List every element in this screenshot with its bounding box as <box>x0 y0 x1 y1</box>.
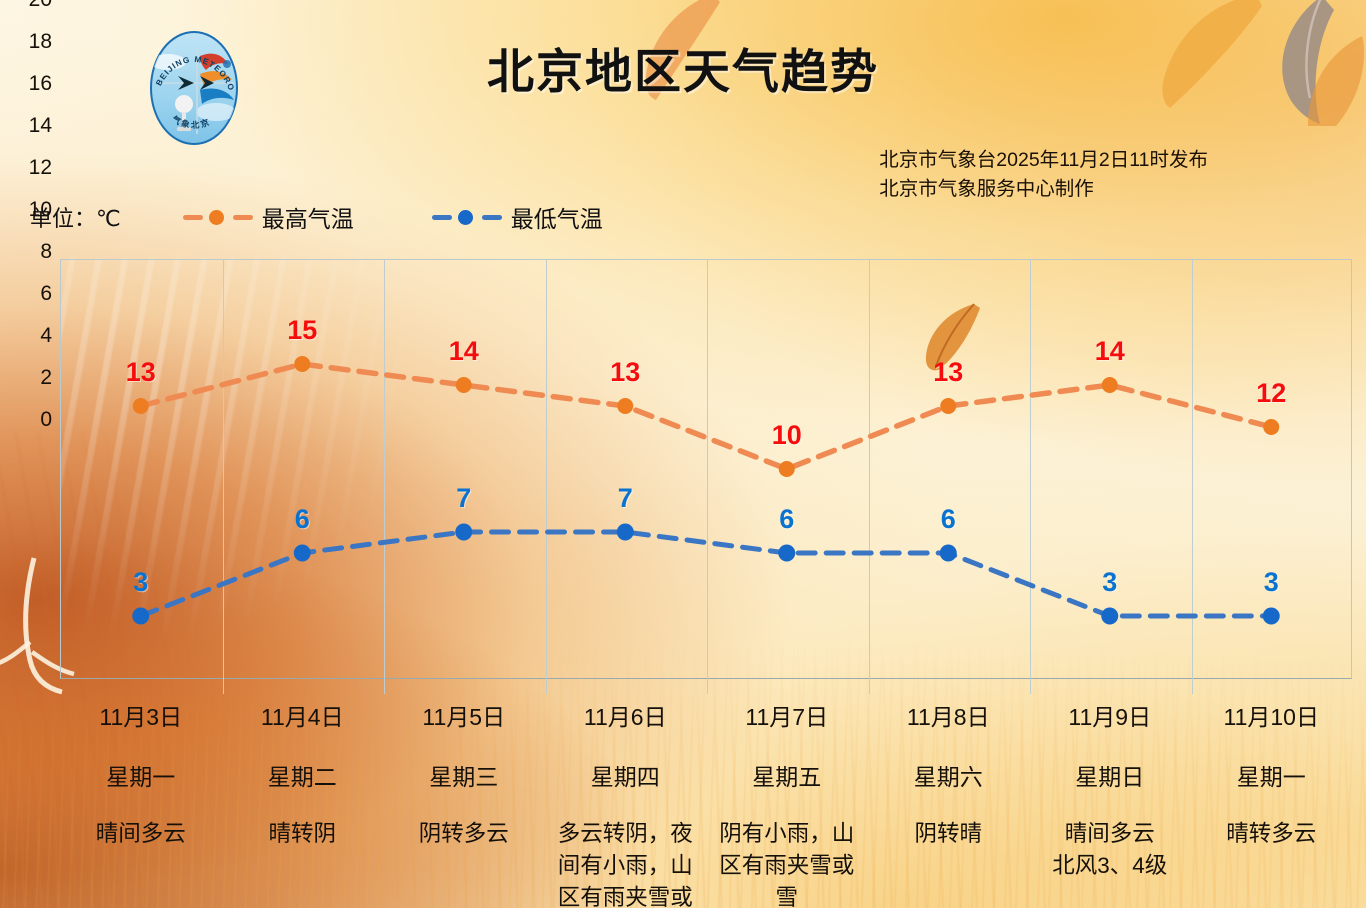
x-axis-date: 11月9日 <box>1068 698 1151 732</box>
x-axis-weather-desc: 阴转晴 <box>914 818 982 850</box>
value-label-low: 6 <box>941 504 956 535</box>
data-point-high <box>617 398 633 414</box>
x-axis-column: 11月4日星期二晴转阴 <box>222 679 384 908</box>
page-title: 北京地区天气趋势 <box>0 33 1366 102</box>
x-axis-weather-desc: 多云转阴，夜间有小雨，山区有雨夹雪或雪 <box>553 818 699 908</box>
x-axis-date: 11月10日 <box>1224 698 1319 732</box>
issue-line-1: 北京市气象台2025年11月2日11时发布 <box>879 146 1208 175</box>
data-point-high <box>1102 377 1118 393</box>
legend-marker-low <box>432 210 502 224</box>
value-label-low: 3 <box>1264 567 1279 598</box>
legend-label-high: 最高气温 <box>262 200 354 234</box>
x-axis-date: 11月3日 <box>99 698 182 732</box>
issue-line-2: 北京市气象服务中心制作 <box>879 175 1208 204</box>
value-label-high: 14 <box>449 336 479 367</box>
value-label-high: 12 <box>1256 378 1286 409</box>
y-axis-tick: 4 <box>0 324 52 348</box>
x-axis-weather-desc: 阴有小雨，山区有雨夹雪或雪 <box>714 818 860 908</box>
x-axis-column: 11月8日星期六阴转晴 <box>868 679 1030 908</box>
y-axis-tick: 10 <box>0 198 52 222</box>
x-axis-column: 11月10日星期一晴转多云 <box>1191 679 1353 908</box>
x-axis-weekday: 星期四 <box>591 758 660 792</box>
value-label-high: 13 <box>610 357 640 388</box>
x-axis-weekday: 星期日 <box>1075 758 1144 792</box>
value-label-high: 15 <box>287 315 317 346</box>
data-point-low <box>617 524 634 541</box>
y-axis-tick: 6 <box>0 282 52 306</box>
y-axis-tick: 14 <box>0 114 52 138</box>
x-axis-columns: 11月3日星期一晴间多云11月4日星期二晴转阴11月5日星期三阴转多云11月6日… <box>60 679 1352 908</box>
y-axis-tick: 8 <box>0 240 52 264</box>
x-axis-column: 11月6日星期四多云转阴，夜间有小雨，山区有雨夹雪或雪 <box>545 679 707 908</box>
weather-trend-poster: BEIJING METEOROLOGICAL SERVICE 气象北京 北京地区… <box>0 0 1366 908</box>
x-axis-column: 11月7日星期五阴有小雨，山区有雨夹雪或雪 <box>706 679 868 908</box>
series-line-high <box>141 364 1272 469</box>
y-axis-tick: 0 <box>0 408 52 432</box>
value-label-high: 14 <box>1095 336 1125 367</box>
x-axis-weather-desc: 晴间多云北风3、4级 <box>1052 818 1167 882</box>
data-point-low <box>294 545 311 562</box>
y-axis-tick: 20 <box>0 0 52 12</box>
x-axis-date: 11月4日 <box>261 698 344 732</box>
y-axis-tick: 12 <box>0 156 52 180</box>
issue-info: 北京市气象台2025年11月2日11时发布 北京市气象服务中心制作 <box>879 146 1208 204</box>
legend-item-low[interactable]: 最低气温 <box>432 200 603 234</box>
legend-marker-high <box>183 210 253 224</box>
x-axis-column: 11月3日星期一晴间多云 <box>60 679 222 908</box>
data-point-high <box>294 356 310 372</box>
chart-series-layer <box>60 259 1352 679</box>
x-axis-column: 11月5日星期三阴转多云 <box>383 679 545 908</box>
data-point-low <box>1101 608 1118 625</box>
x-axis-date: 11月8日 <box>907 698 990 732</box>
x-axis-date: 11月5日 <box>422 698 505 732</box>
legend-label-low: 最低气温 <box>511 200 603 234</box>
x-axis-weather-desc: 晴转多云 <box>1226 818 1316 850</box>
data-point-high <box>779 461 795 477</box>
value-label-high: 13 <box>933 357 963 388</box>
y-axis-labels: 02468101214161820 <box>0 0 52 420</box>
value-label-low: 3 <box>1102 567 1117 598</box>
x-axis-date: 11月7日 <box>745 698 828 732</box>
x-axis-weather-desc: 晴间多云 <box>96 818 186 850</box>
value-label-high: 13 <box>126 357 156 388</box>
data-point-low <box>1263 608 1280 625</box>
x-axis-weekday: 星期一 <box>1237 758 1306 792</box>
data-point-high <box>133 398 149 414</box>
data-point-high <box>1263 419 1279 435</box>
value-label-low: 7 <box>456 483 471 514</box>
x-axis-column: 11月9日星期日晴间多云北风3、4级 <box>1029 679 1191 908</box>
data-point-high <box>940 398 956 414</box>
value-label-low: 3 <box>133 567 148 598</box>
data-point-low <box>778 545 795 562</box>
data-point-low <box>940 545 957 562</box>
x-axis-weekday: 星期五 <box>752 758 821 792</box>
x-axis-date: 11月6日 <box>584 698 667 732</box>
legend-item-high[interactable]: 最高气温 <box>183 200 354 234</box>
value-label-low: 7 <box>618 483 633 514</box>
y-axis-tick: 16 <box>0 72 52 96</box>
y-axis-tick: 2 <box>0 366 52 390</box>
y-axis-tick: 18 <box>0 30 52 54</box>
chart-legend: 单位：℃ 最高气温 最低气温 <box>30 200 681 234</box>
x-axis-weekday: 星期二 <box>268 758 337 792</box>
x-axis-weekday: 星期三 <box>429 758 498 792</box>
x-axis-weekday: 星期一 <box>106 758 175 792</box>
data-point-low <box>132 608 149 625</box>
x-axis-weather-desc: 阴转多云 <box>419 818 509 850</box>
x-axis-weekday: 星期六 <box>914 758 983 792</box>
data-point-low <box>455 524 472 541</box>
value-label-low: 6 <box>779 504 794 535</box>
value-label-low: 6 <box>295 504 310 535</box>
x-axis-weather-desc: 晴转阴 <box>268 818 336 850</box>
data-point-high <box>456 377 472 393</box>
value-label-high: 10 <box>772 420 802 451</box>
